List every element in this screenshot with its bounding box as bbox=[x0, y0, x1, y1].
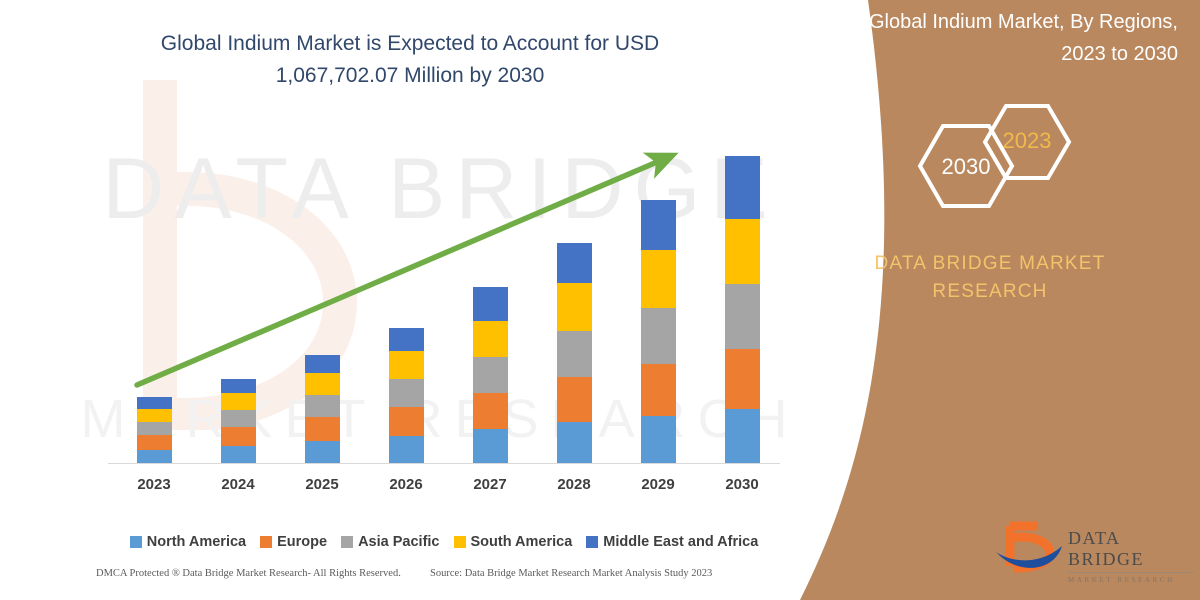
footer-source-note: Source: Data Bridge Market Research Mark… bbox=[430, 568, 712, 579]
bar-2026 bbox=[389, 328, 424, 464]
bar-segment-2024-north-america bbox=[221, 446, 256, 464]
legend-swatch-icon bbox=[260, 536, 272, 548]
bar-segment-2028-north-america bbox=[557, 422, 592, 464]
bar-2029 bbox=[641, 200, 676, 464]
bar-segment-2027-south-america bbox=[473, 321, 508, 357]
bar-2028 bbox=[557, 243, 592, 464]
legend-swatch-icon bbox=[454, 536, 466, 548]
bar-segment-2029-asia-pacific bbox=[641, 308, 676, 364]
brand-line-2: RESEARCH bbox=[780, 278, 1200, 306]
bar-segment-2025-asia-pacific bbox=[305, 395, 340, 417]
bar-segment-2024-south-america bbox=[221, 393, 256, 410]
bar-2025 bbox=[305, 355, 340, 464]
bar-segment-2023-asia-pacific bbox=[137, 422, 172, 435]
hexagon-label-2023: 2023 bbox=[1002, 128, 1052, 154]
legend-item-asia-pacific[interactable]: Asia Pacific bbox=[341, 534, 439, 550]
x-axis-line bbox=[108, 463, 780, 464]
panel-title: Global Indium Market, By Regions, 2023 t… bbox=[838, 6, 1178, 70]
bar-segment-2029-north-america bbox=[641, 416, 676, 464]
bar-segment-2029-south-america bbox=[641, 250, 676, 308]
bar-segment-2025-south-america bbox=[305, 373, 340, 395]
bar-segment-2026-asia-pacific bbox=[389, 379, 424, 407]
x-axis-label-2026: 2026 bbox=[371, 476, 441, 493]
bar-segment-2025-middle-east-and-africa bbox=[305, 355, 340, 373]
bar-segment-2030-europe bbox=[725, 349, 760, 409]
chart-panel: DATA BRIDGE MARKET RESEARCH Global Indiu… bbox=[0, 0, 880, 600]
bar-segment-2025-north-america bbox=[305, 441, 340, 464]
x-axis-label-2030: 2030 bbox=[707, 476, 777, 493]
legend-swatch-icon bbox=[130, 536, 142, 548]
branding-panel: Global Indium Market, By Regions, 2023 t… bbox=[780, 0, 1200, 600]
bar-segment-2026-middle-east-and-africa bbox=[389, 328, 424, 351]
bar-segment-2023-middle-east-and-africa bbox=[137, 397, 172, 409]
x-axis-label-2028: 2028 bbox=[539, 476, 609, 493]
bar-segment-2028-europe bbox=[557, 377, 592, 422]
logo-wordmark: DATA BRIDGE MARKET RESEARCH bbox=[1068, 528, 1198, 584]
x-axis-label-2027: 2027 bbox=[455, 476, 525, 493]
page-title: Global Indium Market is Expected to Acco… bbox=[110, 28, 710, 92]
x-axis-label-2029: 2029 bbox=[623, 476, 693, 493]
bar-segment-2027-middle-east-and-africa bbox=[473, 287, 508, 321]
legend-item-middle-east-and-africa[interactable]: Middle East and Africa bbox=[586, 534, 758, 550]
bar-2024 bbox=[221, 379, 256, 464]
hexagon-label-2030: 2030 bbox=[941, 154, 991, 180]
bar-segment-2030-middle-east-and-africa bbox=[725, 156, 760, 219]
x-axis-label-2023: 2023 bbox=[119, 476, 189, 493]
legend-label: Asia Pacific bbox=[358, 534, 439, 550]
bar-segment-2028-middle-east-and-africa bbox=[557, 243, 592, 283]
bar-segment-2030-south-america bbox=[725, 219, 760, 284]
bar-segment-2023-europe bbox=[137, 435, 172, 450]
bar-segment-2027-asia-pacific bbox=[473, 357, 508, 393]
footer-dmca-notice: DMCA Protected ® Data Bridge Market Rese… bbox=[96, 568, 401, 579]
bar-segment-2029-europe bbox=[641, 364, 676, 416]
bar-segment-2024-europe bbox=[221, 427, 256, 446]
bar-2027 bbox=[473, 287, 508, 464]
legend-label: Middle East and Africa bbox=[603, 534, 758, 550]
bar-segment-2024-asia-pacific bbox=[221, 410, 256, 427]
logo-sub-text: MARKET RESEARCH bbox=[1068, 576, 1198, 584]
bar-2023 bbox=[137, 397, 172, 464]
chart-legend: North AmericaEuropeAsia PacificSouth Ame… bbox=[108, 531, 780, 553]
bar-segment-2029-middle-east-and-africa bbox=[641, 200, 676, 250]
bar-segment-2026-south-america bbox=[389, 351, 424, 379]
bar-segment-2026-europe bbox=[389, 407, 424, 436]
legend-item-south-america[interactable]: South America bbox=[454, 534, 573, 550]
legend-label: South America bbox=[471, 534, 573, 550]
brand-name: DATA BRIDGE MARKET RESEARCH bbox=[780, 250, 1200, 306]
infographic-root: DATA BRIDGE MARKET RESEARCH Global Indiu… bbox=[0, 0, 1200, 600]
x-axis-label-2025: 2025 bbox=[287, 476, 357, 493]
bar-plot-area bbox=[108, 140, 768, 464]
bar-segment-2027-europe bbox=[473, 393, 508, 429]
legend-swatch-icon bbox=[586, 536, 598, 548]
bar-segment-2028-asia-pacific bbox=[557, 331, 592, 377]
hexagon-group: 2030 2023 bbox=[780, 100, 1200, 230]
bar-segment-2025-europe bbox=[305, 417, 340, 441]
x-axis-labels: 20232024202520262027202820292030 bbox=[108, 476, 780, 500]
legend-swatch-icon bbox=[341, 536, 353, 548]
x-axis-label-2024: 2024 bbox=[203, 476, 273, 493]
bar-segment-2024-middle-east-and-africa bbox=[221, 379, 256, 393]
logo-main-text: DATA BRIDGE bbox=[1068, 528, 1198, 570]
bar-segment-2030-north-america bbox=[725, 409, 760, 464]
bar-2030 bbox=[725, 156, 760, 464]
bar-segment-2023-south-america bbox=[137, 409, 172, 422]
bar-segment-2030-asia-pacific bbox=[725, 284, 760, 349]
legend-item-europe[interactable]: Europe bbox=[260, 534, 327, 550]
bar-segment-2027-north-america bbox=[473, 429, 508, 464]
bar-segment-2023-north-america bbox=[137, 450, 172, 464]
bar-segment-2026-north-america bbox=[389, 436, 424, 464]
brand-line-1: DATA BRIDGE MARKET bbox=[780, 250, 1200, 278]
logo-divider bbox=[1068, 572, 1194, 573]
bar-segment-2028-south-america bbox=[557, 283, 592, 331]
legend-item-north-america[interactable]: North America bbox=[130, 534, 246, 550]
legend-label: North America bbox=[147, 534, 246, 550]
legend-label: Europe bbox=[277, 534, 327, 550]
